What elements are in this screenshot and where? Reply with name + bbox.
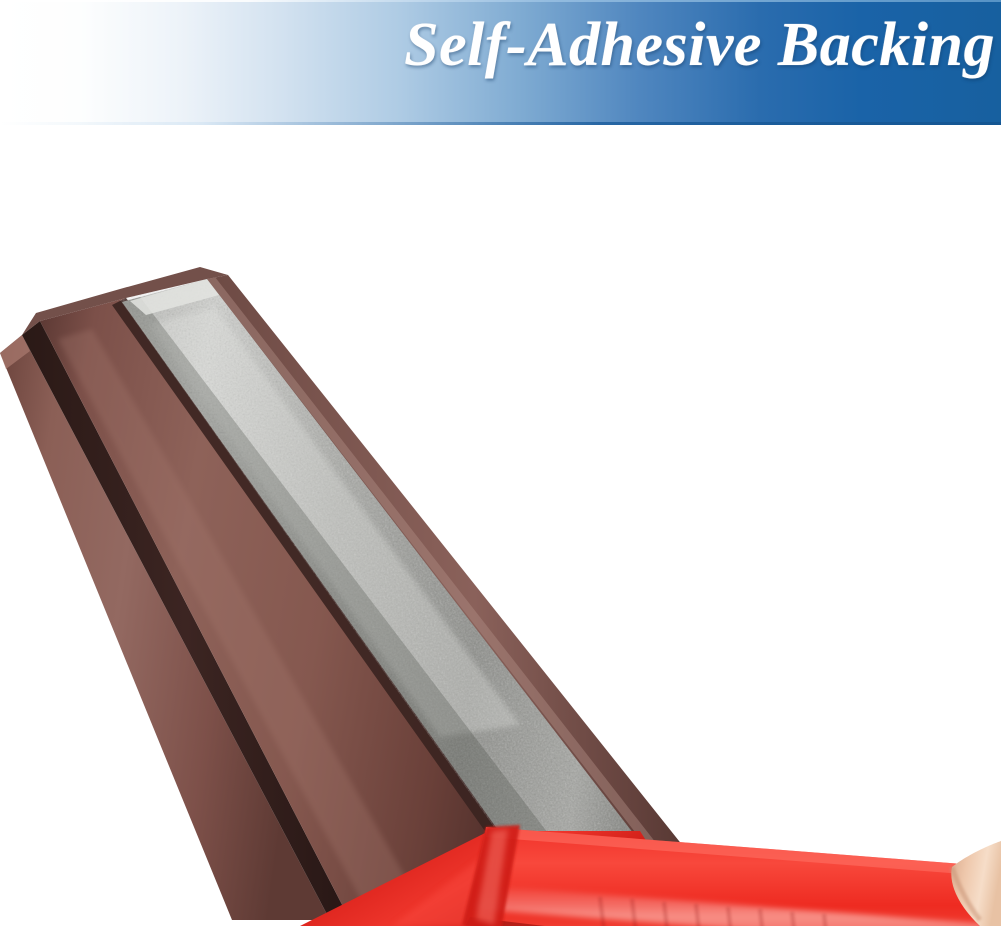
page-title: Self-Adhesive Backing xyxy=(404,14,995,76)
product-feature-image: Self-Adhesive Backing The flexible floor… xyxy=(0,0,1001,926)
header-banner: Self-Adhesive Backing xyxy=(0,0,1001,125)
product-photo xyxy=(0,125,1001,926)
product-photo-svg xyxy=(0,125,1001,926)
banner-top-rule xyxy=(0,0,1001,2)
